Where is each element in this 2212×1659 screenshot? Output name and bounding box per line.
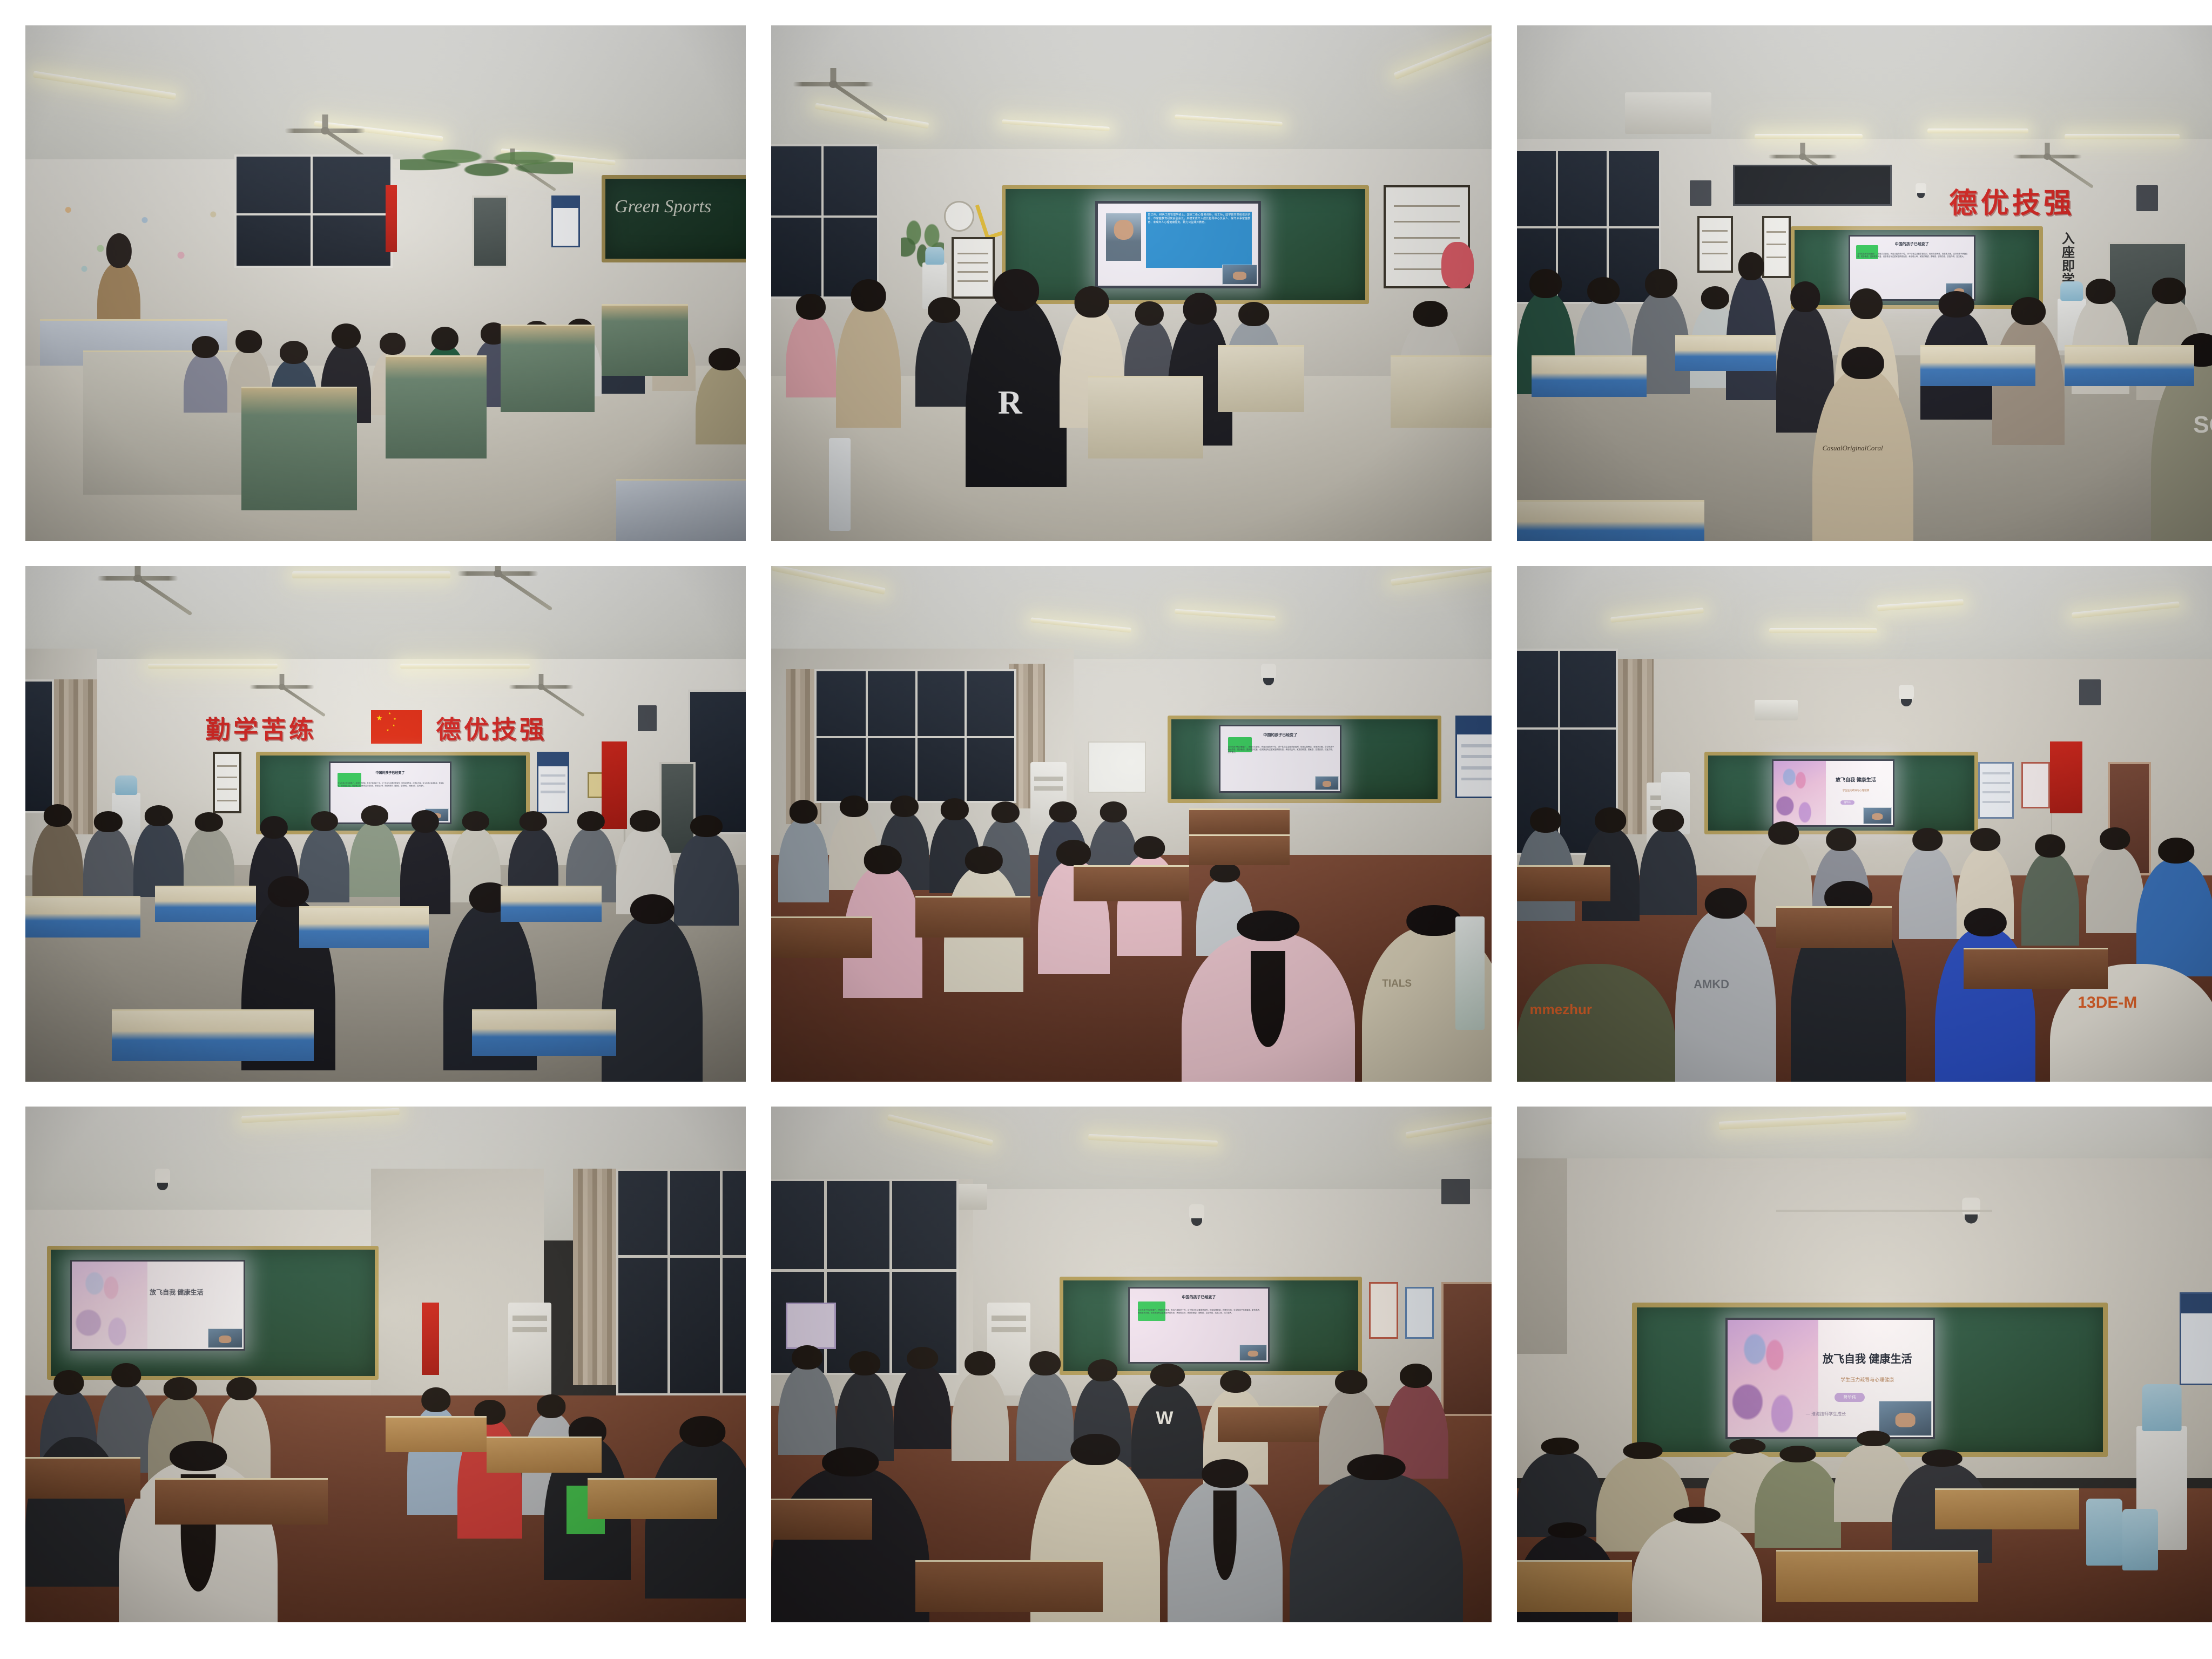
hoodie-text-sou: SOU: [2193, 412, 2212, 439]
photo-panel-middle-left[interactable]: 勤学苦练 ★ ★ ★ ★ ★ 德优技强 中国的孩子已经变了 当今的孩子知识面更广…: [25, 566, 746, 1082]
student-desk: [1218, 345, 1304, 412]
student: [786, 314, 836, 397]
student-desk: [299, 906, 429, 947]
student-desk: [472, 1009, 616, 1056]
student-desk: [487, 1437, 602, 1473]
student-desk: [2065, 345, 2194, 386]
wall-speaker: [1690, 180, 1711, 206]
slide-title: 中国的孩子已经变了: [331, 770, 450, 775]
cctv-camera: [1962, 1197, 1980, 1219]
student: [83, 827, 133, 902]
ceiling-light: [1769, 628, 1877, 633]
student-desk: [915, 896, 1030, 937]
student-desk: [588, 1478, 717, 1519]
cctv-camera: [1189, 1204, 1204, 1223]
cctv-camera: [1916, 183, 1926, 196]
jacket-text-left: mmezhur: [1529, 1001, 1592, 1018]
photo-panel-top-right[interactable]: 德优技强 入座即学 中国的孩子已经变了 当今的孩子知识面更广，思维方式更强，有自…: [1517, 25, 2212, 541]
cctv-camera: [155, 1169, 170, 1187]
ceiling-fan: [97, 576, 178, 581]
student-foreground: [1168, 1479, 1283, 1622]
conduit-pipe: [1776, 1210, 1992, 1212]
water-bottle: [1455, 916, 1484, 1030]
slide-title: 放飞自我 健康生活: [1806, 1350, 1929, 1366]
ceiling-fan: [457, 571, 538, 576]
ceiling-light: [148, 664, 278, 669]
student-desk: [25, 1457, 140, 1498]
hanging-ivy-vine: [400, 144, 573, 185]
student-desk: [1964, 948, 2108, 989]
student-raising-flag: [2021, 853, 2079, 946]
jacket-text-amkd: AMKD: [1694, 977, 1729, 992]
student: [915, 317, 973, 407]
photo-panel-middle-right[interactable]: 放飞自我 健康生活 学生压力疏导与心理健康 曾华伟: [1517, 566, 2212, 1082]
student: [836, 302, 901, 428]
hoodie-text-original: CasualOriginalCoral: [1823, 444, 1883, 453]
chalk-art-text: Green Sports: [615, 197, 711, 217]
student-desk: [616, 479, 746, 541]
ceiling-fan: [2013, 154, 2082, 158]
student-desk: [1517, 500, 1704, 541]
student-desk: [1517, 865, 1610, 901]
student-foreground-right: [1290, 1473, 1462, 1622]
hoodie-text-w: W: [1156, 1408, 1173, 1429]
china-flag: ★ ★ ★ ★ ★: [371, 710, 421, 744]
ceiling-fan: [249, 685, 314, 688]
hoodie-letter-r: R: [998, 384, 1022, 422]
student-desk: [155, 1478, 328, 1525]
student: [32, 822, 83, 903]
wall-slogan-virtue: 德优技强: [1949, 180, 2075, 221]
student: [1899, 847, 1957, 940]
student-desk: [386, 1416, 487, 1452]
student: [400, 827, 450, 914]
student: [674, 833, 739, 926]
ceiling-fan: [509, 685, 574, 688]
student-desk: [241, 387, 356, 510]
water-bottle: [829, 438, 851, 531]
student-desk: [1517, 1560, 1632, 1612]
student-desk: [602, 304, 688, 376]
student-camo: mmezhur: [1517, 964, 1675, 1082]
student-desk: [915, 1560, 1103, 1612]
student: [349, 822, 400, 897]
wall-slogan-virtue: 德优技强: [436, 710, 547, 746]
hoodie-text-essentials: TIALS: [1382, 978, 1412, 990]
photo-panel-bottom-center[interactable]: 中国的孩子已经变了 当今的孩子知识面更广，思维方式更强，有自己独特的个性，对个性…: [771, 1107, 1492, 1622]
slide-badge: 曾华伟: [1835, 1393, 1865, 1402]
ceiling-light: [1927, 129, 2028, 133]
student-desk: [1675, 335, 1776, 371]
slide-subtitle: 学生压力疏导与心理健康: [1806, 1376, 1929, 1383]
student-desk: [155, 886, 256, 922]
ceiling-projector: [1625, 92, 1711, 133]
slide-title: 中国的孩子已经变了: [1130, 1294, 1268, 1300]
person-head: [106, 233, 131, 268]
student: [778, 819, 828, 902]
classroom-window: [234, 154, 393, 268]
student-desk: [1391, 355, 1492, 428]
cctv-camera: [1261, 664, 1276, 682]
wall-slogan-diligence: 勤学苦练: [206, 710, 317, 746]
student-desk: [112, 1009, 314, 1061]
jacket-text-13de: 13DE-M: [2078, 994, 2137, 1012]
student-desk: [386, 355, 487, 458]
student: [778, 1365, 836, 1455]
wall-poster: [551, 195, 580, 247]
student-desk: [1776, 906, 1891, 947]
wall-poster: [2180, 1292, 2212, 1385]
student-desk: [1189, 834, 1290, 865]
student-foreground-hoodie: R: [966, 296, 1067, 487]
slide-pip-video: [1879, 1401, 1932, 1436]
ceiling-light: [292, 571, 450, 578]
door-frame: [1517, 1158, 1567, 1354]
student-desk: [1074, 865, 1189, 901]
student-desk: [501, 886, 602, 922]
wall-speaker: [638, 705, 657, 731]
student-desk: [771, 1499, 872, 1540]
ceiling-fan: [793, 82, 874, 86]
projection-screen: 放飞自我 健康生活 学生压力疏导与心理健康 曾华伟 — 淮海技师学生成长: [1725, 1318, 1935, 1440]
photo-panel-middle-center[interactable]: 中国的孩子已经变了 当今的孩子知识面更广，思维方式更强，有自己独特的个性，对个性…: [771, 566, 1492, 1082]
cctv-camera: [1899, 685, 1914, 703]
photo-panel-top-center[interactable]: 曾华伟，MBA工商管理学硕士，国家二级心理咨询师，社工师，国学教育高级培训讲师，…: [771, 25, 1492, 541]
student-desk: [1935, 1488, 2079, 1529]
student-desk: [771, 916, 872, 957]
wall-speaker: [1441, 1179, 1470, 1205]
student-desk: [1920, 345, 2035, 386]
student-amkd: AMKD: [1675, 908, 1776, 1082]
wall-speaker: [2079, 679, 2101, 705]
student-desk: [1218, 1406, 1319, 1442]
classroom-door: [472, 195, 508, 268]
ceiling-fan: [1768, 154, 1837, 158]
chalk-blackboard: Green Sports: [602, 175, 746, 262]
student-blue-jacket: [2136, 859, 2212, 976]
student: [184, 353, 227, 412]
wall-speaker: [2136, 185, 2158, 211]
red-banner: [386, 185, 397, 252]
slide-floral-art: [1728, 1320, 1818, 1438]
student: [696, 364, 746, 444]
student: [1755, 1459, 1841, 1548]
slide-title: 中国的孩子已经变了: [1220, 732, 1340, 738]
slide-footer: — 淮海技师学生成长: [1806, 1411, 1846, 1417]
ceiling-light: [400, 664, 530, 669]
student-desk: [25, 896, 140, 937]
photo-panel-top-left[interactable]: Green Sports: [25, 25, 746, 541]
student: [1640, 828, 1697, 914]
student-w-hoodie: W: [1131, 1383, 1203, 1479]
photo-panel-bottom-left[interactable]: 放飞自我 健康生活 TAKESEA: [25, 1107, 746, 1622]
student: [2086, 847, 2144, 933]
photo-panel-bottom-right[interactable]: 放飞自我 健康生活 学生压力疏导与心理健康 曾华伟 — 淮海技师学生成长: [1517, 1107, 2212, 1622]
slide-title: 放飞自我 健康生活: [113, 1287, 240, 1297]
ceiling-light: [1755, 134, 1863, 139]
ceiling-projector: [1755, 700, 1798, 720]
wall-tv: [1733, 165, 1891, 206]
ceiling-light: [2065, 134, 2180, 139]
wall-clock: [944, 201, 974, 232]
ceiling-fan: [285, 129, 366, 133]
student: [952, 1371, 1009, 1461]
photo-collage: Green Sports: [0, 0, 2212, 1659]
student: [894, 1365, 952, 1449]
student-desk: [1088, 376, 1203, 458]
student-desk: [1776, 1550, 1978, 1602]
student-desk: [1532, 355, 1647, 396]
student: [1016, 1371, 1074, 1461]
student-foreground-dark: [771, 1467, 929, 1622]
student-foreground: [602, 914, 703, 1082]
student-desk: [501, 325, 594, 412]
